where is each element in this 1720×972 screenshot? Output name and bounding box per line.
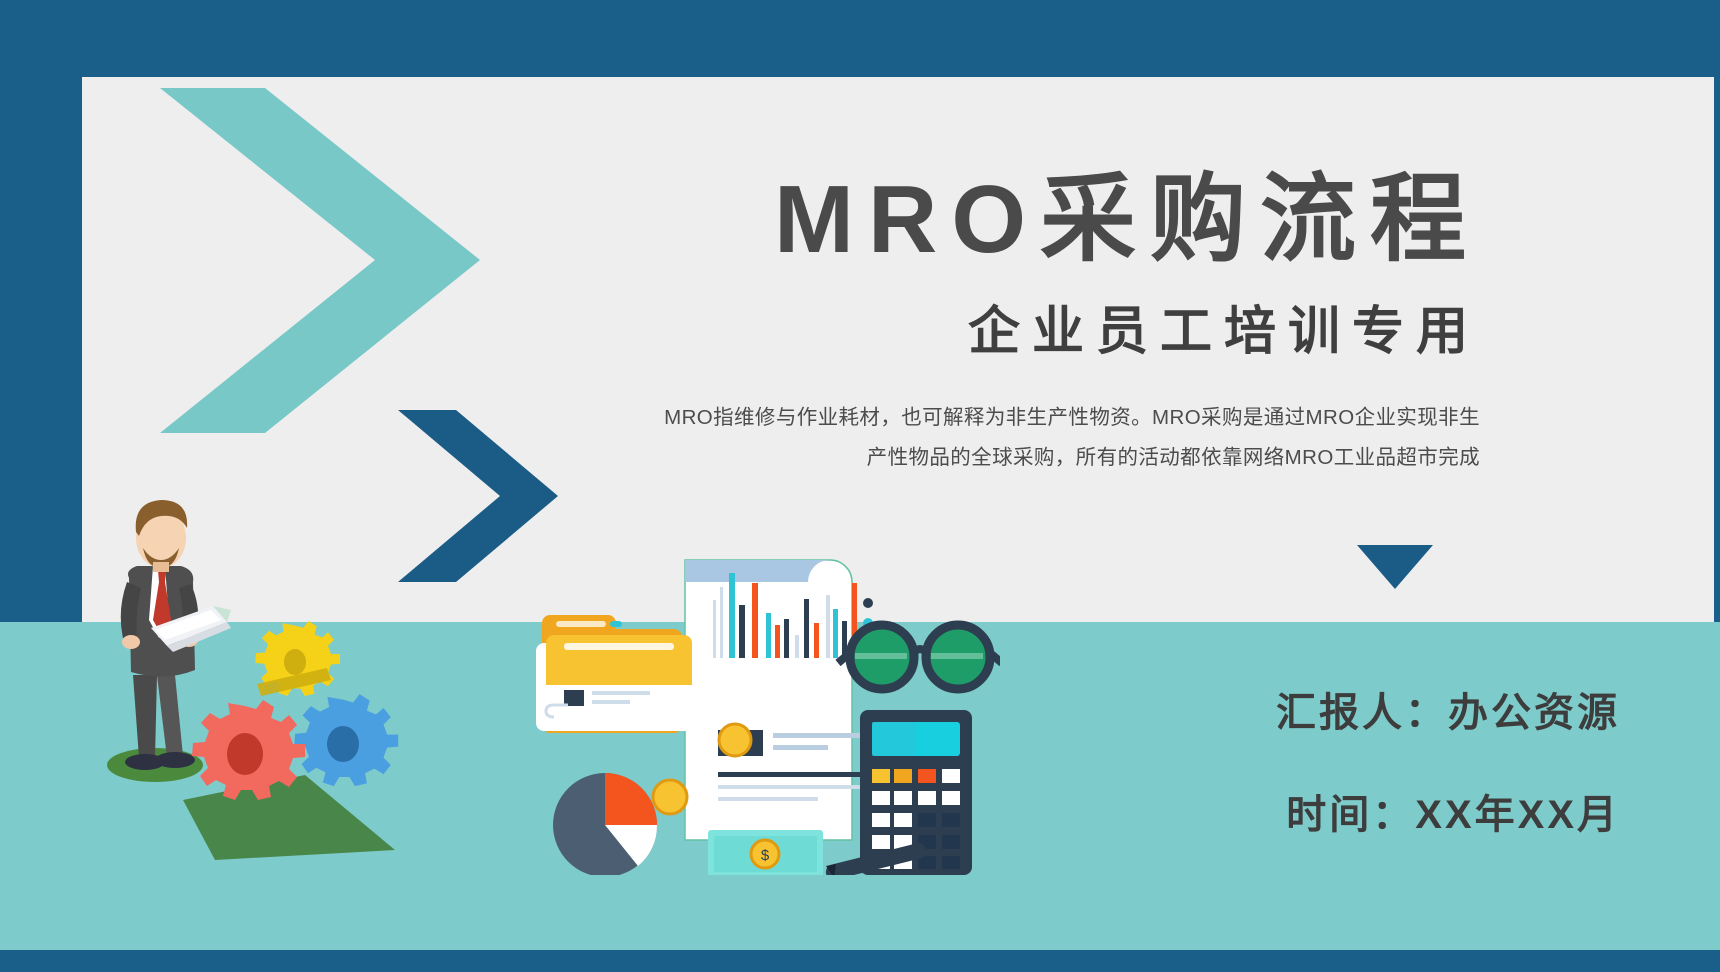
presenter-label: 汇报人：办公资源 <box>1276 680 1620 738</box>
footer-block: 汇报人：办公资源 时间：XX年XX月 <box>1276 680 1620 840</box>
triangle-down-icon <box>1357 545 1433 589</box>
page-title: MRO采购流程 <box>540 170 1480 271</box>
eyeglasses-icon <box>838 625 1000 689</box>
gear-yellow-icon <box>255 621 340 696</box>
gear-blue-icon <box>294 694 398 786</box>
gear-red-icon <box>192 700 305 800</box>
gears-cluster-icon <box>192 621 398 800</box>
description-line-2: 产性物品的全球采购，所有的活动都依靠网络MRO工业品超市完成 <box>540 438 1480 478</box>
businessman-gears-illustration <box>95 470 435 860</box>
pie-chart-icon <box>553 773 657 875</box>
folder-icon <box>536 615 702 733</box>
date-label: 时间：XX年XX月 <box>1276 782 1620 840</box>
office-items-illustration: $ <box>530 535 1000 875</box>
description-paragraph: MRO指维修与作业耗材，也可解释为非生产性物资。MRO采购是通过MRO企业实现非… <box>540 398 1480 478</box>
slide-root: MRO采购流程 企业员工培训专用 MRO指维修与作业耗材，也可解释为非生产性物资… <box>0 0 1720 972</box>
document-report-icon <box>685 560 873 840</box>
banknote-icon: $ <box>708 830 823 875</box>
page-subtitle: 企业员工培训专用 <box>540 289 1480 364</box>
svg-text:$: $ <box>761 847 770 864</box>
description-line-1: MRO指维修与作业耗材，也可解释为非生产性物资。MRO采购是通过MRO企业实现非… <box>540 398 1480 438</box>
title-block: MRO采购流程 企业员工培训专用 MRO指维修与作业耗材，也可解释为非生产性物资… <box>540 170 1480 478</box>
chevron-right-large-icon <box>160 88 480 433</box>
